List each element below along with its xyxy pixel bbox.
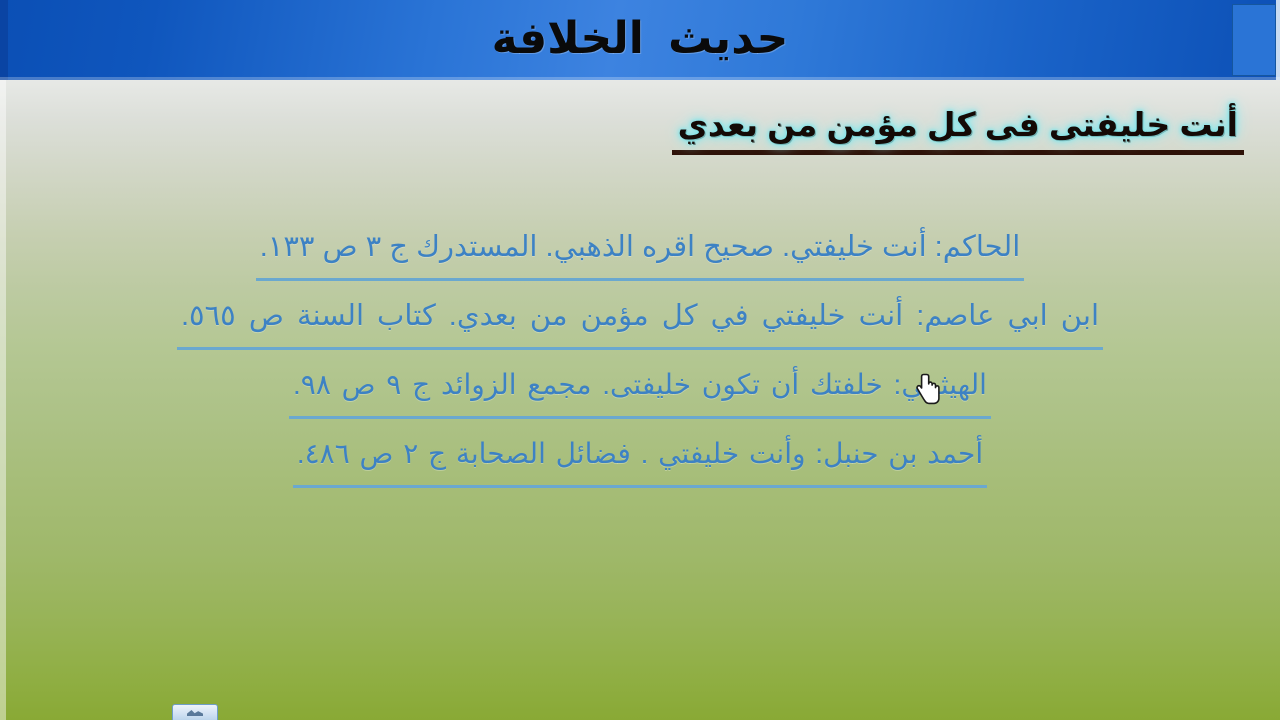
slide-title: حديث الخلافة [0, 8, 1280, 70]
reference-line-hakim: الحاكم: أنت خليفتي. صحيح اقره الذهبي. ال… [0, 220, 1280, 281]
reference-line-text: الهيثمي: خلفتك أن تكون خليفتى. مجمع الزو… [289, 358, 991, 419]
slide-title-bar: حديث الخلافة [0, 0, 1280, 82]
slide-heading: أنت خليفتى فى كل مؤمن من بعدي [672, 100, 1244, 155]
reference-line-ahmad-ibn-hanbal: أحمد بن حنبل: وأنت خليفتي . فضائل الصحاب… [0, 427, 1280, 488]
reference-line-haythami: الهيثمي: خلفتك أن تكون خليفتى. مجمع الزو… [0, 358, 1280, 419]
blue-panel-icon [1232, 4, 1276, 76]
right-edge-strip [1276, 0, 1280, 80]
slide-heading-text: أنت خليفتى فى كل مؤمن من بعدي [672, 100, 1244, 155]
image-placeholder-icon[interactable] [172, 704, 218, 720]
slide-content-area: أنت خليفتى فى كل مؤمن من بعدي الحاكم: أن… [0, 80, 1280, 720]
reference-lines-list: الحاكم: أنت خليفتي. صحيح اقره الذهبي. ال… [0, 220, 1280, 496]
presentation-slide: حديث الخلافة أنت خليفتى فى كل مؤمن من بع… [0, 0, 1280, 720]
reference-line-text: أحمد بن حنبل: وأنت خليفتي . فضائل الصحاب… [293, 427, 987, 488]
image-placeholder-glyph [187, 710, 203, 716]
reference-line-text: الحاكم: أنت خليفتي. صحيح اقره الذهبي. ال… [256, 220, 1025, 281]
reference-line-text: ابن ابي عاصم: أنت خليفتي في كل مؤمن من ب… [177, 289, 1103, 350]
reference-line-ibn-abi-asim: ابن ابي عاصم: أنت خليفتي في كل مؤمن من ب… [0, 289, 1280, 350]
